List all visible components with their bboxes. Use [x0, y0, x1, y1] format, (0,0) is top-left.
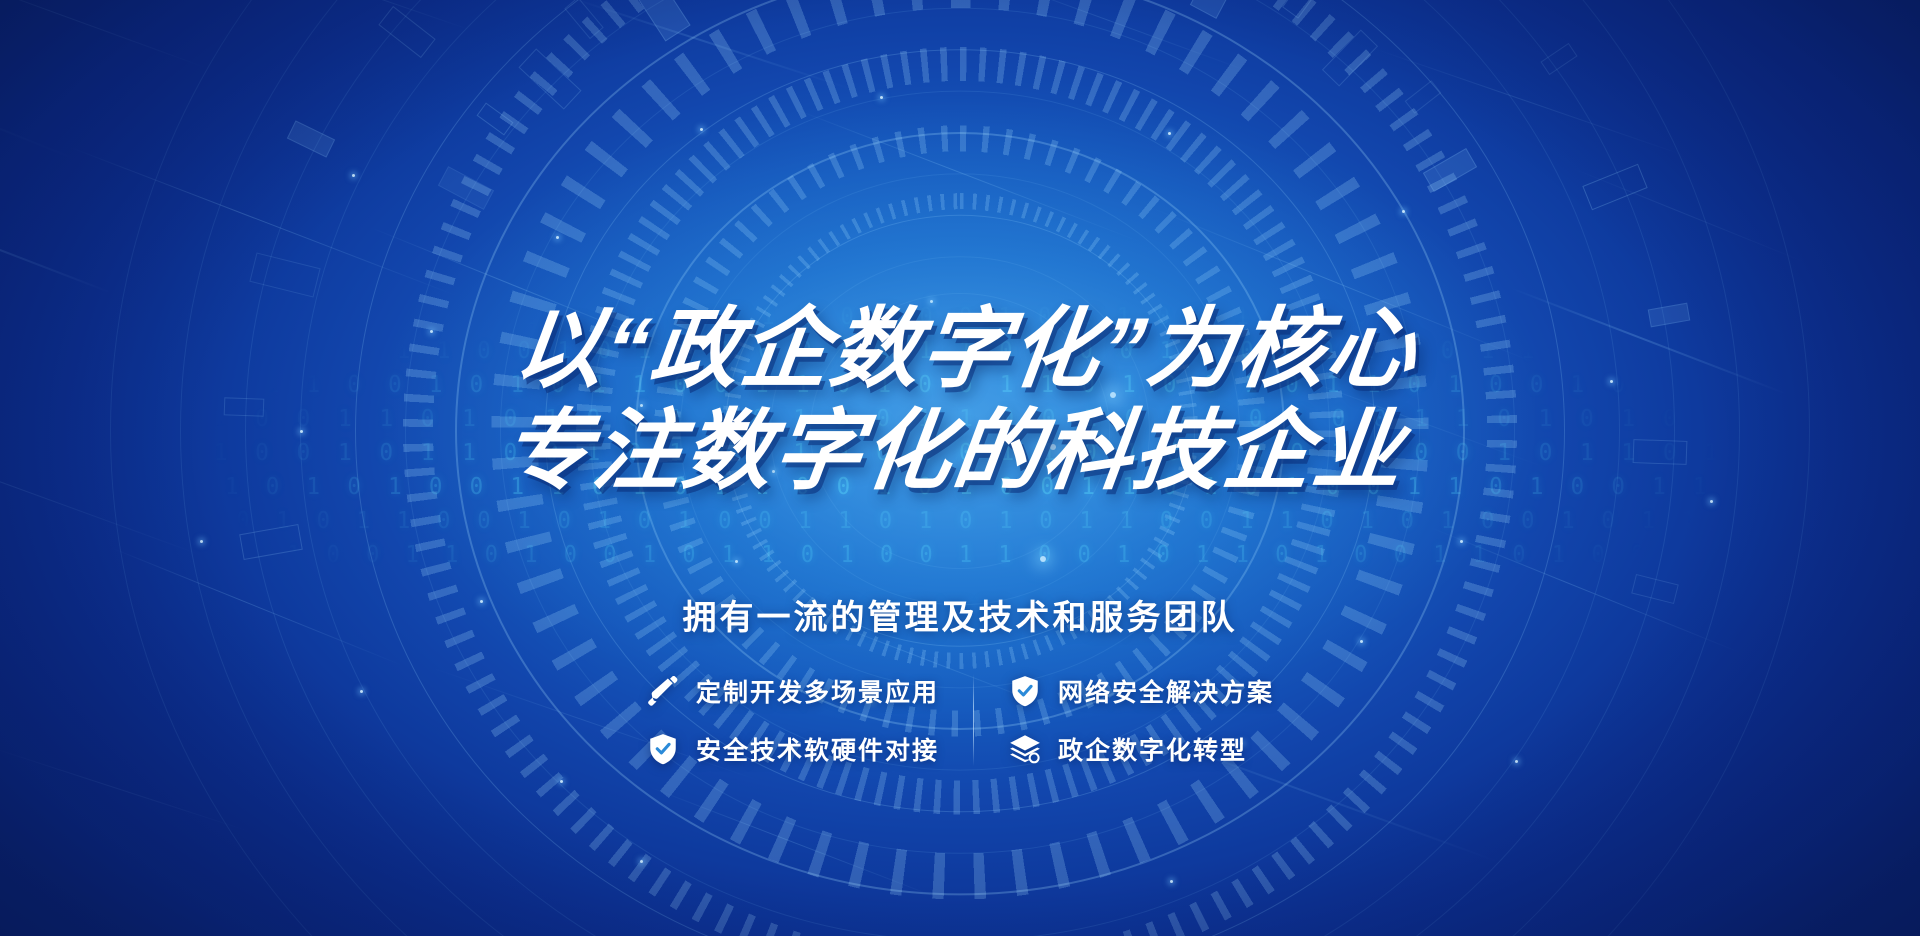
- feature-label: 政企数字化转型: [1058, 731, 1247, 767]
- banner-content: 以“政企数字化”为核心 专注数字化的科技企业 拥有一流的管理及技术和服务团队 定…: [0, 0, 1920, 936]
- feature-item-custom-development[interactable]: 定制开发多场景应用: [646, 673, 939, 709]
- feature-label: 定制开发多场景应用: [696, 673, 939, 709]
- feature-divider: [973, 674, 974, 766]
- hero-banner: 1 0 1 1 0 0 1 0 1 0 0 1 1 0 1 0 0 0 1 1 …: [0, 0, 1920, 936]
- feature-item-digital-transformation[interactable]: 政企数字化转型: [1008, 731, 1274, 767]
- feature-item-security-integration[interactable]: 安全技术软硬件对接: [646, 731, 939, 767]
- shield-check-icon: [1008, 674, 1042, 708]
- headline-line-2: 专注数字化的科技企业: [497, 407, 1410, 495]
- subtitle: 拥有一流的管理及技术和服务团队: [683, 590, 1238, 639]
- shield-check-icon: [646, 732, 680, 766]
- headline-line-1: 以“政企数字化”为核心: [510, 305, 1423, 393]
- code-slash-icon: [646, 674, 680, 708]
- feature-label: 网络安全解决方案: [1058, 673, 1274, 709]
- feature-label: 安全技术软硬件对接: [696, 731, 939, 767]
- layers-icon: [1008, 732, 1042, 766]
- headline: 以“政企数字化”为核心 专注数字化的科技企业: [497, 305, 1422, 495]
- feature-item-network-security[interactable]: 网络安全解决方案: [1008, 673, 1274, 709]
- feature-list: 定制开发多场景应用 网络安全解决方案: [646, 673, 1274, 767]
